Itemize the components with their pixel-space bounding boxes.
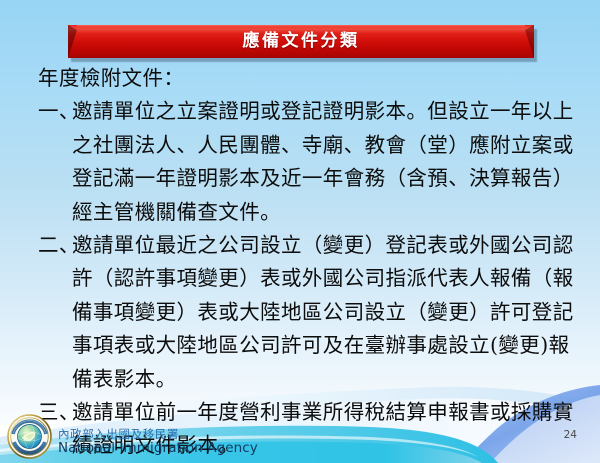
agency-name-en: National Immigration Agency [58, 441, 258, 456]
footer-agency-names: 內政部入出國及移民署 National Immigration Agency [58, 427, 258, 456]
body-lead-text: 年度檢附文件： [38, 62, 574, 95]
slide-body: 年度檢附文件： 一、 邀請單位之立案證明或登記證明影本。但設立一年以上 之社團法… [38, 62, 574, 463]
list-item-line: 邀請單位之立案證明或登記證明影本。但設立一年以上 [72, 95, 574, 128]
list-item-line: 備事項變更）表或大陸地區公司設立（變更）許可登記 [72, 296, 574, 329]
page-number: 24 [564, 429, 577, 441]
page-title: 應備文件分類 [243, 25, 360, 58]
list-item: 一、 邀請單位之立案證明或登記證明影本。但設立一年以上 之社團法人、人民團體、寺… [38, 95, 574, 229]
banner-left-bevel [68, 25, 77, 58]
list-item-marker: 一、 [38, 95, 80, 128]
list-item-line: 事項表或大陸地區公司許可及在臺辦事處設立(變更)報 [72, 329, 574, 362]
list-item-line: 經主管機關備查文件。 [72, 196, 574, 229]
list-item-line: 許（認許事項變更）表或外國公司指派代表人報備（報 [72, 262, 574, 295]
nia-globe-emblem-icon [7, 414, 52, 459]
list-item: 二、 邀請單位最近之公司設立（變更）登記表或外國公司認 許（認許事項變更）表或外… [38, 229, 574, 396]
list-item-line: 備表影本。 [72, 363, 574, 396]
slide-canvas: 應備文件分類 年度檢附文件： 一、 邀請單位之立案證明或登記證明影本。但設立一年… [0, 0, 600, 463]
banner-right-bevel [525, 25, 534, 58]
slide-title-banner: 應備文件分類 [68, 25, 534, 58]
list-item-line: 之社團法人、人民團體、寺廟、教會（堂）應附立案或 [72, 129, 574, 162]
list-item-text: 邀請單位最近之公司設立（變更）登記表或外國公司認 許（認許事項變更）表或外國公司… [72, 229, 574, 396]
banner-plate: 應備文件分類 [68, 25, 534, 58]
list-item-line: 登記滿一年證明影本及近一年會務（含預、決算報告） [72, 162, 574, 195]
list-item-line: 邀請單位前一年度營利事業所得稅結算申報書或採購實 [72, 396, 574, 429]
list-item-line: 邀請單位最近之公司設立（變更）登記表或外國公司認 [72, 229, 574, 262]
agency-name-zh: 內政部入出國及移民署 [58, 427, 258, 441]
list-item-marker: 二、 [38, 229, 80, 262]
list-item-text: 邀請單位之立案證明或登記證明影本。但設立一年以上 之社團法人、人民團體、寺廟、教… [72, 95, 574, 229]
